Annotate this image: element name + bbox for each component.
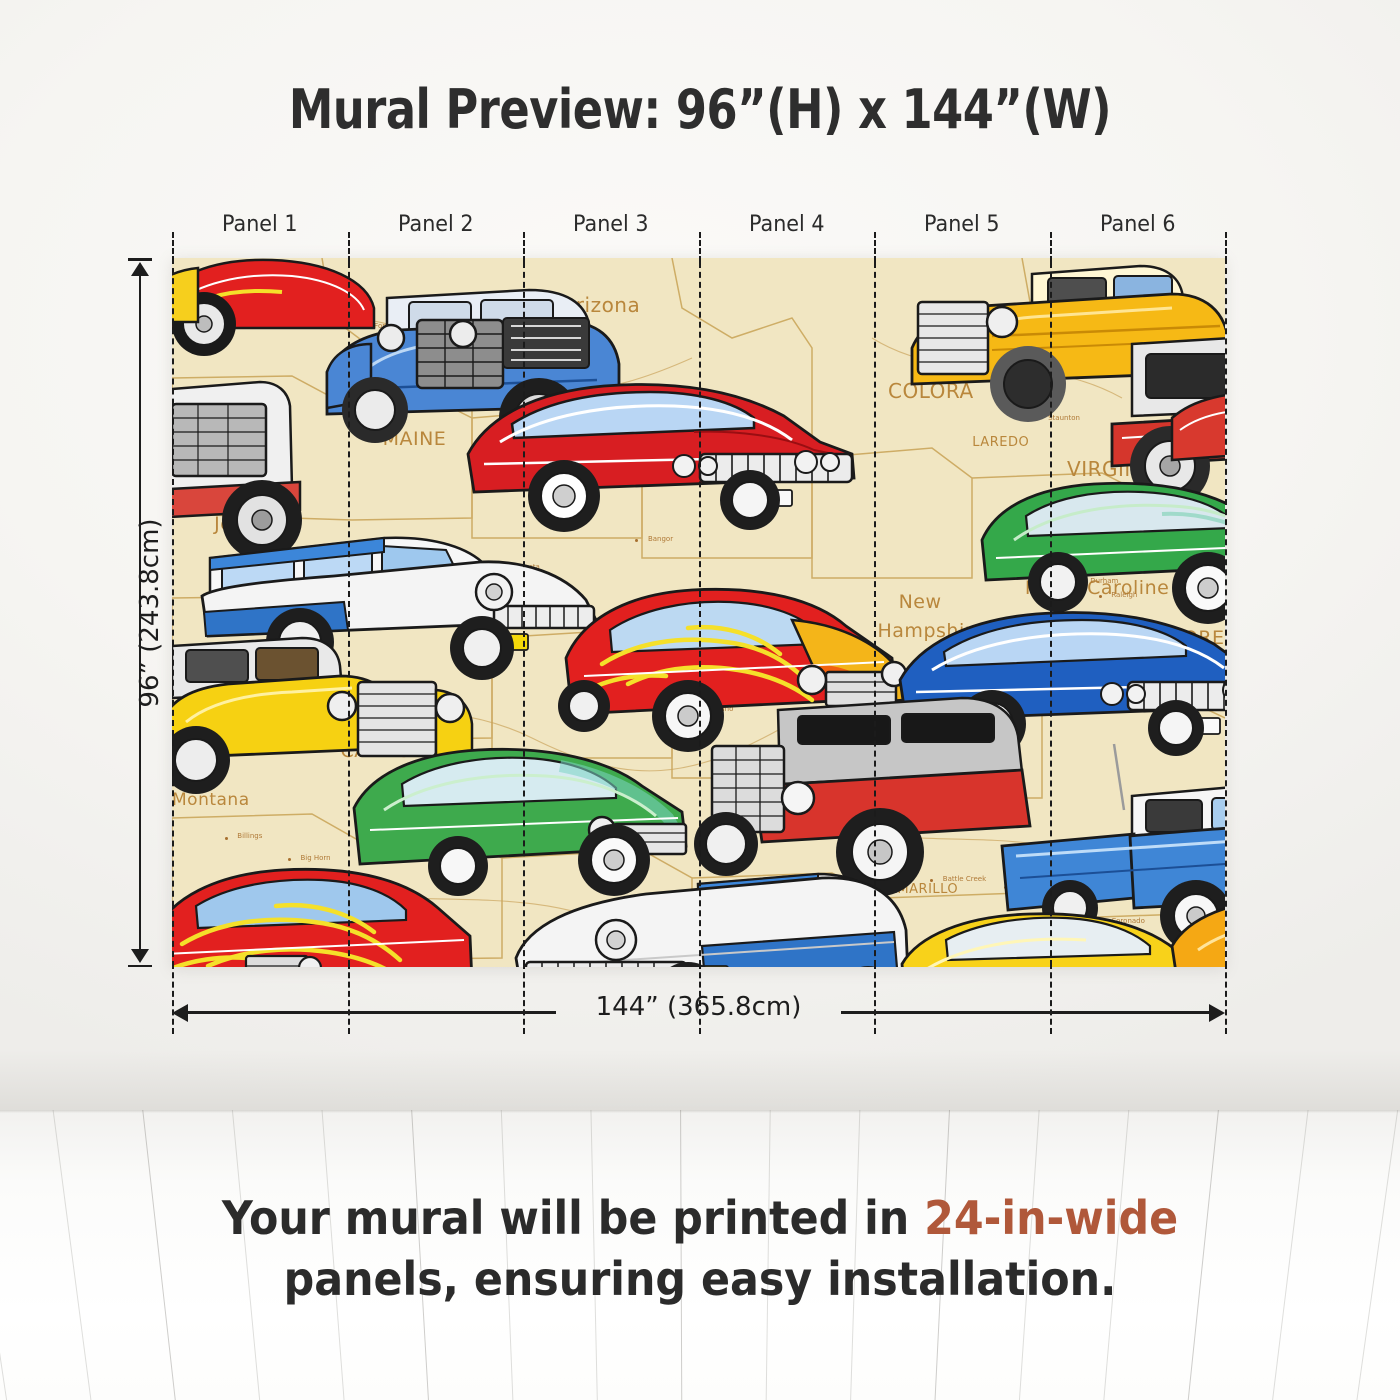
floor-edge-line	[0, 1110, 1400, 1113]
height-cap-bottom	[128, 965, 152, 968]
car-red-fragment-right	[1172, 378, 1225, 488]
bottom-caption: Your mural will be printed in 24-in-wide…	[49, 1188, 1351, 1309]
height-cap-top	[128, 258, 152, 261]
panel-divider-1	[348, 258, 350, 967]
height-label: 96” (243.8cm)	[135, 373, 165, 853]
car-orange-coupe-fragment-right	[1152, 876, 1225, 967]
car-red-flame-coupe-bottom	[172, 856, 474, 967]
panel-label-5: Panel 5	[879, 212, 1044, 246]
height-arrow-up	[131, 262, 149, 276]
panel-label-1: Panel 1	[177, 212, 342, 246]
caption-line-1-prefix: Your mural will be printed in	[222, 1191, 924, 1245]
mural-preview-image: ESSEEArizonaCOLORAMAINEVIRGINIANewJersey…	[172, 258, 1225, 967]
panel-label-2: Panel 2	[353, 212, 518, 246]
panel-divider-4	[874, 258, 876, 967]
panel-divider-2	[523, 258, 525, 967]
width-dimension: 144” (365.8cm)	[172, 1000, 1225, 1026]
panel-divider-3	[699, 258, 701, 967]
panel-label-4: Panel 4	[704, 212, 869, 246]
map-city-dot	[225, 837, 228, 840]
panel-divider-5	[1050, 258, 1052, 967]
page-title: Mural Preview: 96”(H) x 144”(W)	[56, 78, 1344, 141]
caption-accent-text: 24-in-wide	[924, 1191, 1178, 1245]
caption-line-2: panels, ensuring easy installation.	[49, 1249, 1351, 1310]
floor-plank-line	[0, 1110, 14, 1400]
height-dimension: 96” (243.8cm)	[118, 258, 162, 967]
floor-plank-line	[1350, 1110, 1400, 1400]
car-white-blue-wagon-bottom	[502, 846, 922, 967]
wall-floor-shadow	[0, 1050, 1400, 1110]
map-city-label: Billings	[237, 832, 262, 840]
panel-label-3: Panel 3	[528, 212, 693, 246]
panel-label-6: Panel 6	[1055, 212, 1220, 246]
caption-line-1: Your mural will be printed in 24-in-wide	[49, 1188, 1351, 1249]
height-arrow-down	[131, 949, 149, 963]
panel-label-row: Panel 1 Panel 2 Panel 3 Panel 4 Panel 5 …	[172, 212, 1225, 246]
mural-canvas: ESSEEArizonaCOLORAMAINEVIRGINIANewJersey…	[172, 258, 1225, 967]
width-label: 144” (365.8cm)	[172, 992, 1225, 1022]
